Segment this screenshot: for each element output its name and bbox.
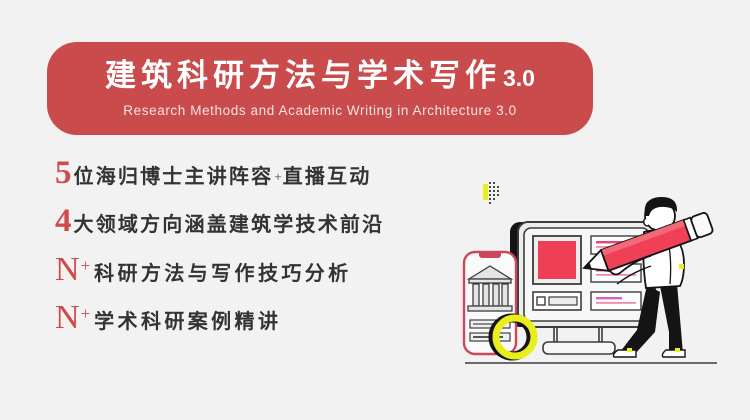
feature-midplus-1: + [274, 170, 281, 183]
feature-plus-4: + [81, 305, 91, 322]
feature-text-3: 科研方法与写作技巧分析 [94, 263, 351, 283]
feature-list: 5 位海归博士主讲阵容 + 直播互动 4 大领域方向涵盖建筑学技术前沿 N + … [55, 157, 455, 349]
feature-number-4: N [55, 301, 80, 335]
feature-text-1a: 位海归博士主讲阵容 [74, 166, 274, 186]
feature-row-2: 4 大领域方向涵盖建筑学技术前沿 [55, 205, 455, 253]
title-banner: 建筑科研方法与学术写作 3.0 Research Methods and Aca… [47, 42, 593, 135]
feature-row-1: 5 位海归博士主讲阵容 + 直播互动 [55, 157, 455, 205]
feature-row-3: N + 科研方法与写作技巧分析 [55, 253, 455, 301]
feature-text-2: 大领域方向涵盖建筑学技术前沿 [74, 214, 385, 234]
illustration [455, 180, 735, 375]
banner-title-version: 3.0 [503, 67, 535, 90]
feature-text-1b: 直播互动 [283, 166, 372, 186]
poster-canvas: 建筑科研方法与学术写作 3.0 Research Methods and Aca… [0, 0, 750, 420]
feature-number-1: 5 [55, 157, 72, 190]
dotted-accent-icon [483, 182, 499, 204]
banner-subtitle-english: Research Methods and Academic Writing in… [123, 103, 516, 118]
feature-text-4: 学术科研案例精讲 [94, 311, 281, 331]
feature-row-4: N + 学术科研案例精讲 [55, 301, 455, 349]
banner-title-row: 建筑科研方法与学术写作 3.0 [105, 61, 535, 92]
banner-title-chinese: 建筑科研方法与学术写作 [105, 61, 501, 92]
monitor-checkbox-row [533, 292, 581, 310]
feature-number-2: 4 [55, 205, 72, 238]
monitor-text-block-3 [591, 292, 641, 310]
monitor-stand [543, 327, 615, 354]
feature-number-3: N [55, 253, 80, 287]
feature-plus-3: + [81, 257, 91, 274]
